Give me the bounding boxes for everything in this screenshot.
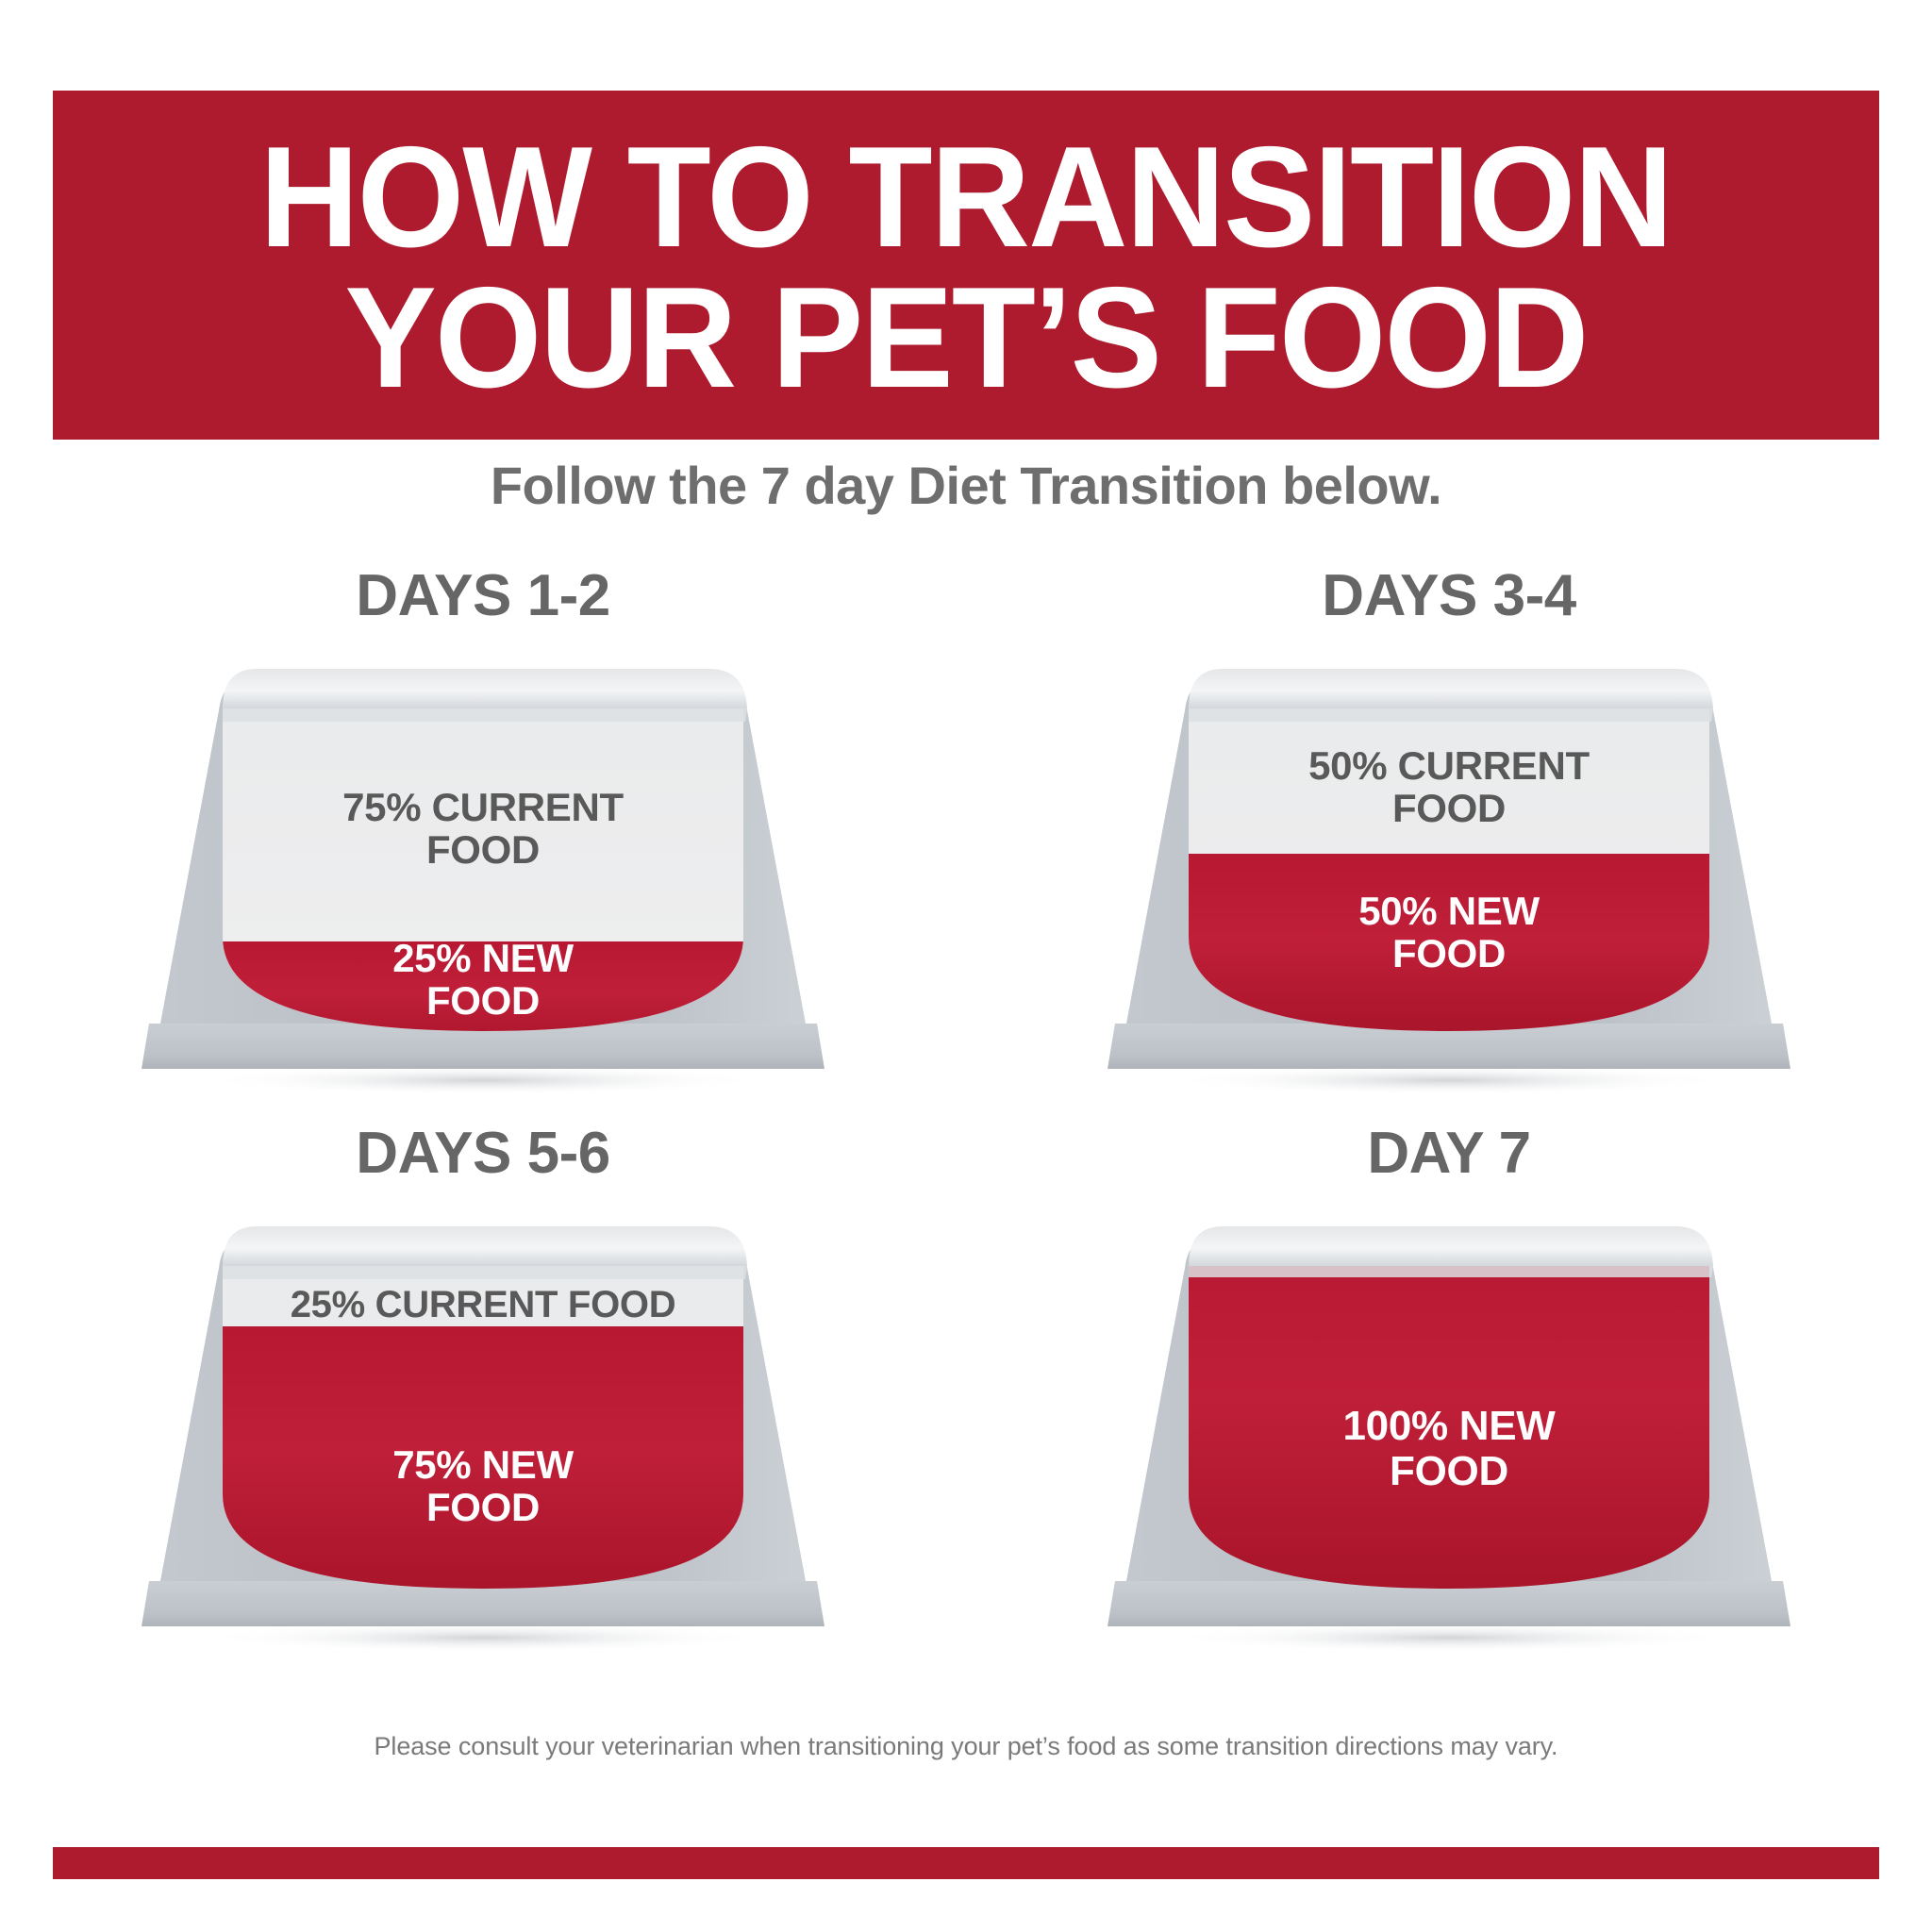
step-card-days-3-4: DAYS 3-4 xyxy=(966,562,1932,1097)
bowl-graphic-days-3-4: 50% CURRENT FOOD 50% NEW FOOD xyxy=(1091,654,1807,1097)
bowl-graphic-days-1-2: 75% CURRENT FOOD 25% NEW FOOD xyxy=(125,654,841,1097)
step-label-days-1-2: DAYS 1-2 xyxy=(356,562,609,629)
infographic-page: HOW TO TRANSITION YOUR PET’S FOOD Follow… xyxy=(0,0,1932,1932)
step-label-days-3-4: DAYS 3-4 xyxy=(1322,562,1575,629)
bottom-accent-bar xyxy=(53,1847,1879,1879)
bowl-graphic-days-5-6: 25% CURRENT FOOD 75% NEW FOOD xyxy=(125,1211,841,1655)
step-card-day-7: DAY 7 xyxy=(966,1120,1932,1655)
subtitle: Follow the 7 day Diet Transition below. xyxy=(0,455,1932,516)
step-label-days-5-6: DAYS 5-6 xyxy=(356,1120,609,1187)
page-title-line2: YOUR PET’S FOOD xyxy=(344,268,1587,408)
step-card-days-5-6: DAYS 5-6 xyxy=(0,1120,966,1655)
disclaimer-text: Please consult your veterinarian when tr… xyxy=(0,1732,1932,1761)
header-banner: HOW TO TRANSITION YOUR PET’S FOOD xyxy=(53,91,1879,440)
bowl-graphic-day-7: 100% NEW FOOD xyxy=(1091,1211,1807,1655)
step-card-days-1-2: DAYS 1-2 xyxy=(0,562,966,1097)
transition-steps-grid: DAYS 1-2 xyxy=(0,562,1932,1655)
step-label-day-7: DAY 7 xyxy=(1367,1120,1530,1187)
page-title-line1: HOW TO TRANSITION xyxy=(260,127,1673,268)
